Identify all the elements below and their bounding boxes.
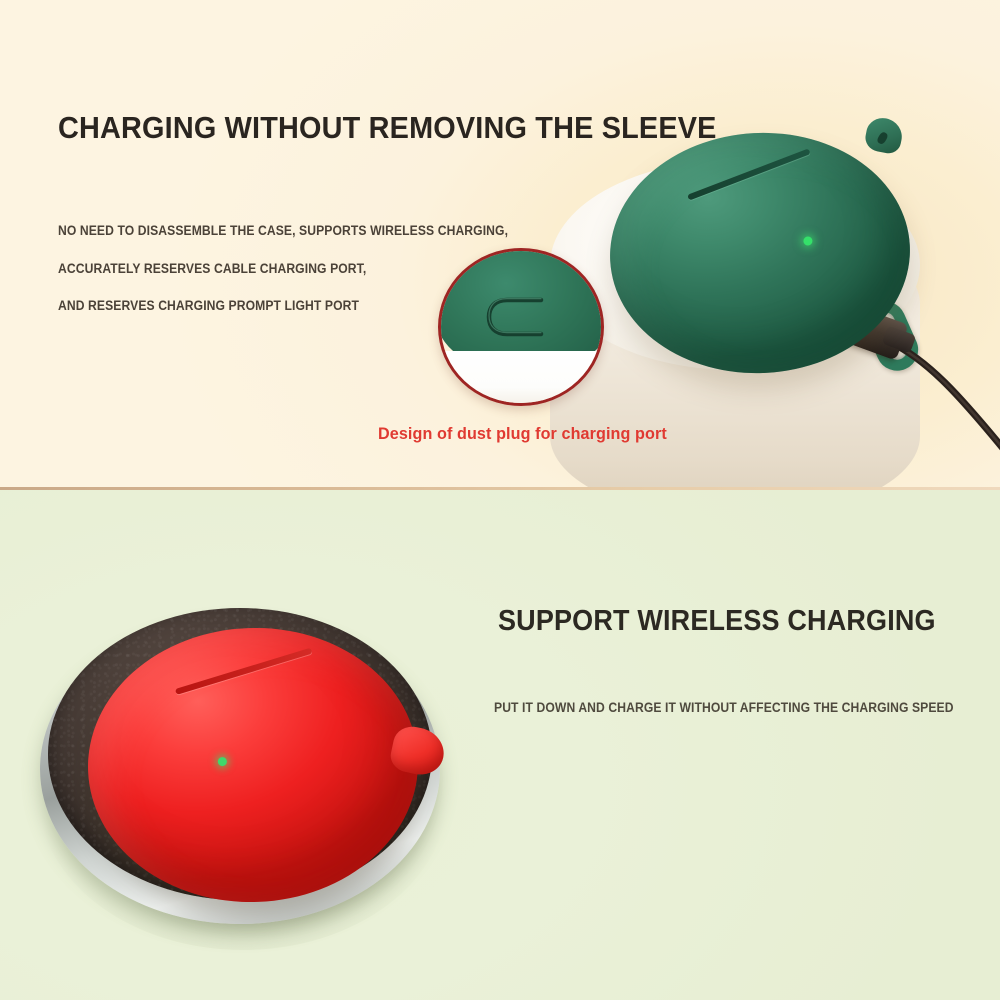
bottom-subtitle: PUT IT DOWN AND CHARGE IT WITHOUT AFFECT…	[494, 700, 954, 715]
case-lid-slot	[175, 648, 313, 695]
body-line: AND RESERVES CHARGING PROMPT LIGHT PORT	[58, 299, 508, 313]
top-body-text: NO NEED TO DISASSEMBLE THE CASE, SUPPORT…	[58, 224, 558, 337]
page-title: CHARGING WITHOUT REMOVING THE SLEEVE	[58, 110, 717, 146]
body-line: NO NEED TO DISASSEMBLE THE CASE, SUPPORT…	[58, 224, 508, 238]
callout-caption: Design of dust plug for charging port	[378, 424, 667, 444]
product-infographic: CHARGING WITHOUT REMOVING THE SLEEVE NO …	[0, 0, 1000, 1000]
charging-led-indicator	[218, 757, 227, 766]
charging-led-indicator	[803, 236, 812, 245]
magnifier-white-band	[441, 351, 601, 403]
case-lid-slot	[687, 148, 811, 200]
bottom-title: SUPPORT WIRELESS CHARGING	[498, 605, 936, 638]
top-panel: CHARGING WITHOUT REMOVING THE SLEEVE NO …	[0, 0, 1000, 490]
body-line: ACCURATELY RESERVES CABLE CHARGING PORT,	[58, 262, 508, 276]
